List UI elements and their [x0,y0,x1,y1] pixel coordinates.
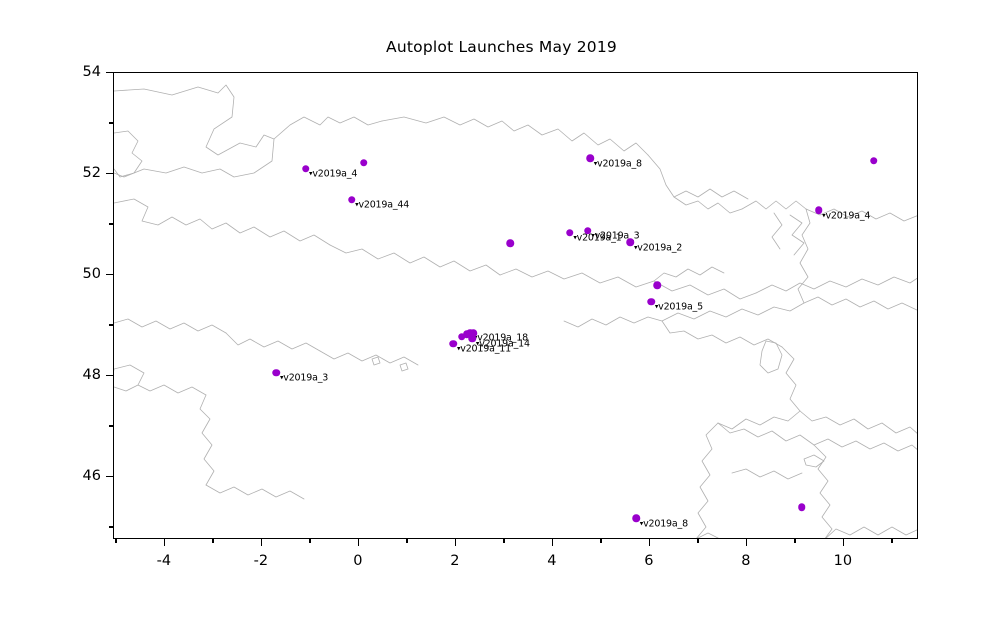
data-point [506,239,514,247]
data-point [360,159,368,167]
data-point [798,503,806,511]
x-tick-major [261,539,262,546]
y-tick-label: 50 [63,266,101,282]
x-tick-major [358,539,359,546]
x-tick-minor [212,539,213,543]
page-title: Autoplot Launches May 2019 [0,38,1003,56]
x-tick-major [455,539,456,546]
data-point-label: ▾v2019a_44 [355,200,409,211]
x-tick-label: 8 [741,553,750,569]
x-tick-major [843,539,844,546]
label-text: v2019a_2 [637,242,682,253]
y-tick-label: 46 [63,468,101,484]
y-tick-major [106,476,113,477]
data-point-label: ▾v2019a_5 [655,302,703,313]
label-text: v2019a_8 [597,158,642,169]
data-point-label: ▾v2019a_8 [594,158,642,169]
x-tick-minor [503,539,504,543]
x-tick-label: -4 [157,553,171,569]
figure-canvas: Autoplot Launches May 2019 [0,0,1003,633]
x-tick-minor [697,539,698,543]
x-tick-major [552,539,553,546]
y-tick-major [106,173,113,174]
x-tick-minor [309,539,310,543]
data-point-label: ▾v2019a_2 [634,242,682,253]
y-tick-label: 52 [63,165,101,181]
x-tick-major [649,539,650,546]
scatter-markers-layer: ▾v2019a_4▾v2019a_44▾v2019a_3▾v2019a_11▾v… [114,73,918,539]
label-text: v2019a_5 [658,302,703,313]
label-text: v2019a_44 [358,200,409,211]
y-tick-major [106,274,113,275]
y-tick-label: 48 [63,367,101,383]
label-text: v2019a_4 [312,169,357,180]
data-point-label: ▾v2019a_3 [280,373,328,384]
x-tick-label: 4 [547,553,556,569]
data-point-label: ▾v2019a_14 [476,339,530,350]
x-tick-label: 0 [353,553,362,569]
x-tick-label: 2 [450,553,459,569]
data-point-label: ▾v2019a_4 [309,169,357,180]
x-tick-minor [794,539,795,543]
x-tick-minor [115,539,116,543]
x-tick-label: 6 [644,553,653,569]
label-text: v2019a_14 [479,339,530,350]
label-text: v2019a_4 [825,210,870,221]
x-tick-major [746,539,747,546]
label-text: v2019a_8 [643,518,688,529]
x-tick-minor [406,539,407,543]
x-tick-minor [891,539,892,543]
y-tick-major [106,375,113,376]
label-text: v2019a_3 [283,373,328,384]
x-tick-label: 10 [834,553,852,569]
y-tick-major [106,72,113,73]
x-tick-label: -2 [254,553,268,569]
data-point-label: ▾v2019a_8 [640,518,688,529]
data-point [870,157,878,165]
data-point-label: ▾v2019a_4 [822,210,870,221]
y-tick-label: 54 [63,64,101,80]
plot-axes[interactable]: ▾v2019a_4▾v2019a_44▾v2019a_3▾v2019a_11▾v… [113,72,918,539]
x-tick-minor [600,539,601,543]
x-tick-major [164,539,165,546]
data-point [653,281,661,289]
